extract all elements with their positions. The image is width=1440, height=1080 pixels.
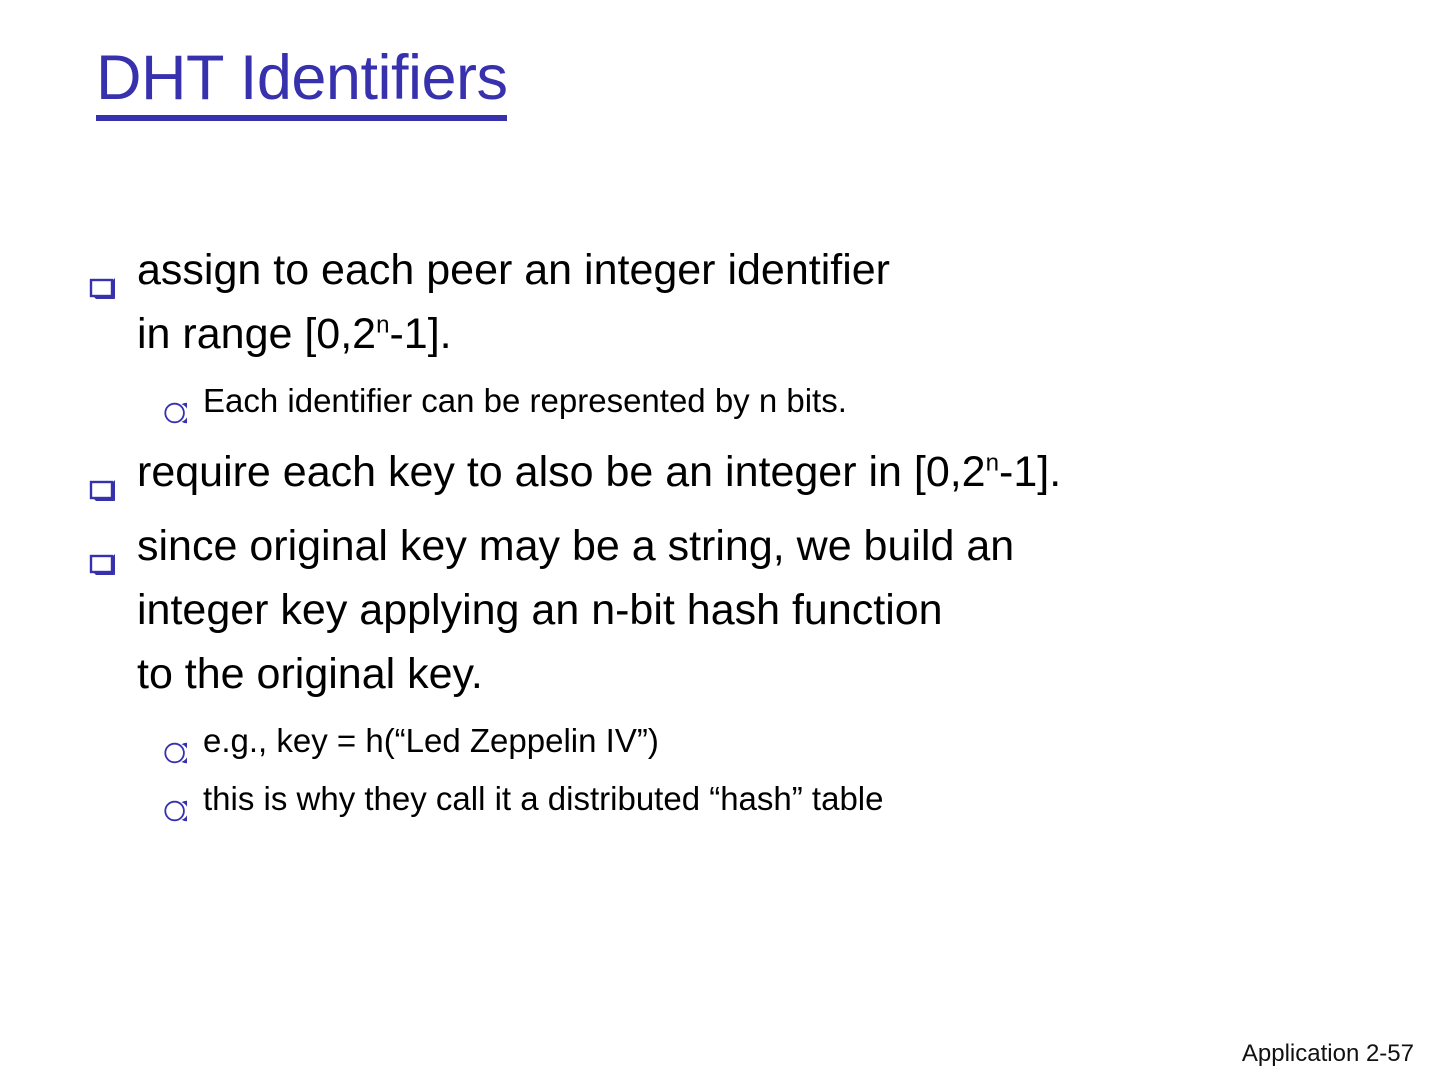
spacer — [0, 506, 1440, 514]
sub-bullet-item-example-key: e.g., key = h(“Led Zeppelin IV”) — [0, 716, 1440, 766]
spacer — [0, 368, 1440, 376]
circle-bullet-icon — [163, 389, 187, 413]
circle-bullet-icon — [163, 729, 187, 753]
spacer — [0, 708, 1440, 716]
bullet-line: assign to each peer an integer identifie… — [137, 238, 1440, 302]
circle-bullet-icon — [163, 787, 187, 811]
page-title: DHT Identifiers — [96, 45, 507, 121]
slide-content: assign to each peer an integer identifie… — [0, 238, 1440, 824]
square-box-bullet-icon — [89, 457, 116, 484]
sub-bullet-text: this is why they call it a distributed “… — [203, 774, 1440, 824]
square-box-bullet-icon — [89, 255, 116, 282]
bullet-line: require each key to also be an integer i… — [137, 440, 1440, 504]
slide-footer: Application 2-57 — [1242, 1040, 1414, 1068]
bullet-line-pre: require each key to also be an integer i… — [137, 448, 986, 496]
bullet-line-post: -1]. — [999, 448, 1061, 496]
square-box-bullet-icon — [89, 531, 116, 558]
sub-bullet-item-hash-table-name: this is why they call it a distributed “… — [0, 774, 1440, 824]
bullet-line-post: -1]. — [389, 310, 451, 358]
spacer — [0, 766, 1440, 774]
bullet-line: since original key may be a string, we b… — [137, 514, 1440, 578]
sub-bullet-item-n-bits: Each identifier can be represented by n … — [0, 376, 1440, 426]
bullet-item-assign-identifier: assign to each peer an integer identifie… — [0, 238, 1440, 366]
sub-bullet-text: e.g., key = h(“Led Zeppelin IV”) — [203, 716, 1440, 766]
spacer — [0, 426, 1440, 440]
superscript-n: n — [986, 450, 999, 477]
bullet-line-pre: in range [0,2 — [137, 310, 376, 358]
sub-bullet-text: Each identifier can be represented by n … — [203, 376, 1440, 426]
bullet-line: in range [0,2n-1]. — [137, 302, 1440, 366]
bullet-item-hash-original-key: since original key may be a string, we b… — [0, 514, 1440, 706]
page-title-text: DHT Identifiers — [96, 45, 507, 121]
superscript-n: n — [376, 312, 389, 339]
bullet-line: integer key applying an n-bit hash funct… — [137, 578, 1440, 642]
bullet-item-require-key: require each key to also be an integer i… — [0, 440, 1440, 504]
bullet-line: to the original key. — [137, 642, 1440, 706]
